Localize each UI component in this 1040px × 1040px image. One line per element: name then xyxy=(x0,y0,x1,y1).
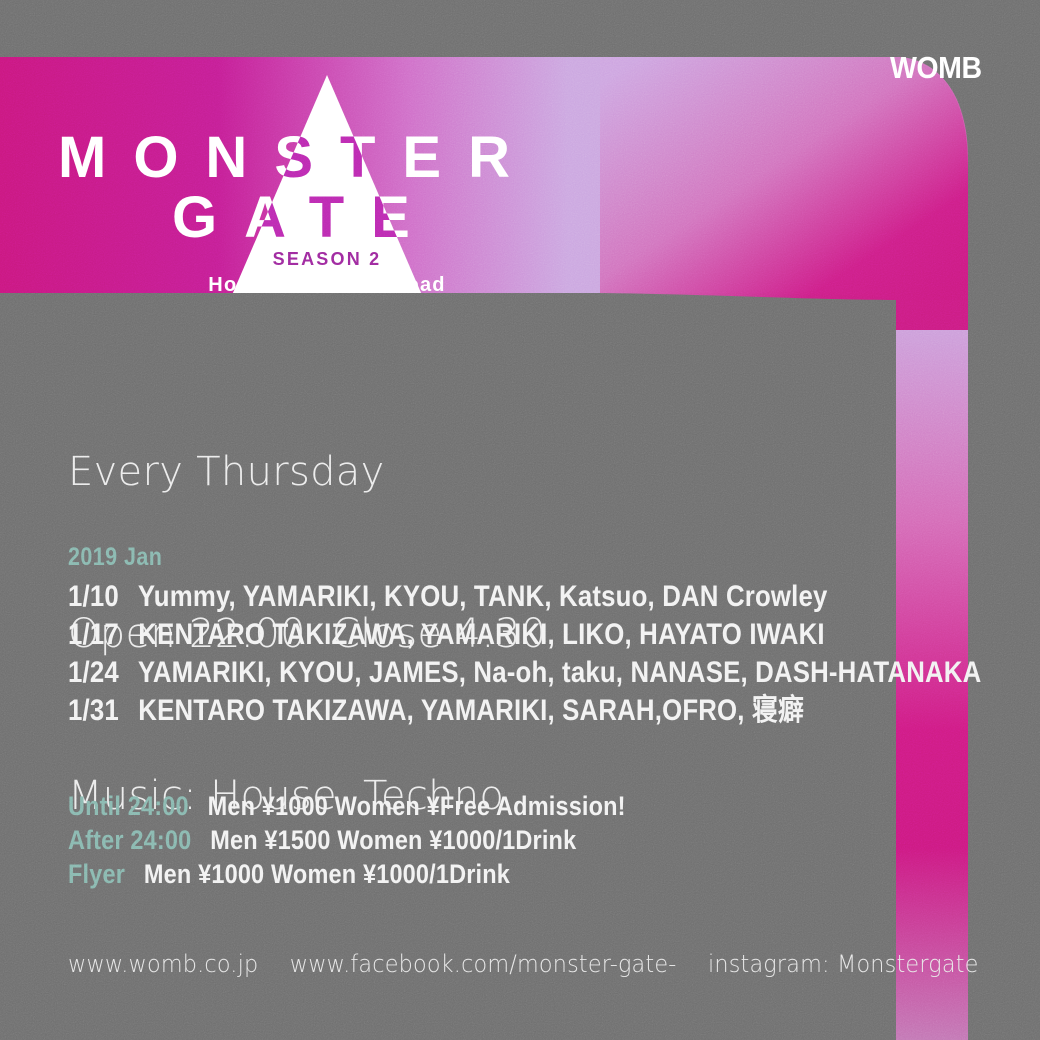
lineup-row: 1/10 Yummy, YAMARIKI, KYOU, TANK, Katsuo… xyxy=(68,578,981,616)
price-detail: Men ¥1000 Women ¥Free Admission! xyxy=(208,791,626,821)
lineup-date: 1/10 xyxy=(68,580,119,613)
price-detail: Men ¥1000 Women ¥1000/1Drink xyxy=(144,859,510,889)
lineup-artists: KENTARO TAKIZAWA, YAMARIKI, LIKO, HAYATO… xyxy=(138,618,824,651)
lineup-block: 2019 Jan 1/10 Yummy, YAMARIKI, KYOU, TAN… xyxy=(68,543,1040,730)
lineup-artists: YAMARIKI, KYOU, JAMES, Na-oh, taku, NANA… xyxy=(138,656,982,689)
flyer-poster: MONSTER GATE MONSTER GATE SEASON 2 House… xyxy=(0,0,1040,1040)
footer-links: www.womb.co.jp www.facebook.com/monster-… xyxy=(68,950,979,978)
price-block: Until 24:00 Men ¥1000 Women ¥Free Admiss… xyxy=(68,789,709,891)
facebook-link[interactable]: www.facebook.com/monster-gate- xyxy=(290,950,677,978)
lineup-artists: Yummy, YAMARIKI, KYOU, TANK, Katsuo, DAN… xyxy=(138,580,828,613)
website-link[interactable]: www.womb.co.jp xyxy=(68,950,258,978)
instagram-link[interactable]: instagram: Monstergate xyxy=(708,950,979,978)
lineup-artists: KENTARO TAKIZAWA, YAMARIKI, SARAH,OFRO, … xyxy=(138,694,804,727)
lineup-row: 1/31 KENTARO TAKIZAWA, YAMARIKI, SARAH,O… xyxy=(68,692,981,730)
season-label: SEASON 2 xyxy=(273,249,382,269)
monster-gate-logo: MONSTER GATE MONSTER GATE SEASON 2 House… xyxy=(0,57,700,293)
price-tier-label: After 24:00 xyxy=(68,825,191,855)
price-tier-label: Flyer xyxy=(68,859,125,889)
info-line-day: Every Thursday xyxy=(68,445,546,499)
lineup-date: 1/24 xyxy=(68,656,119,689)
lineup-row: 1/17 KENTARO TAKIZAWA, YAMARIKI, LIKO, H… xyxy=(68,616,981,654)
price-detail: Men ¥1500 Women ¥1000/1Drink xyxy=(210,825,576,855)
lineup-date: 1/31 xyxy=(68,694,119,727)
lineup-month-label: 2019 Jan xyxy=(68,543,981,572)
lineup-date: 1/17 xyxy=(68,618,119,651)
price-row: Until 24:00 Men ¥1000 Women ¥Free Admiss… xyxy=(68,789,626,823)
price-row: After 24:00 Men ¥1500 Women ¥1000/1Drink xyxy=(68,823,626,857)
tagline-label: House music overload xyxy=(208,274,445,293)
womb-venue-logo[interactable]: WOMB xyxy=(890,50,982,86)
price-row: Flyer Men ¥1000 Women ¥1000/1Drink xyxy=(68,857,626,891)
lineup-row: 1/24 YAMARIKI, KYOU, JAMES, Na-oh, taku,… xyxy=(68,654,981,692)
price-tier-label: Until 24:00 xyxy=(68,791,189,821)
